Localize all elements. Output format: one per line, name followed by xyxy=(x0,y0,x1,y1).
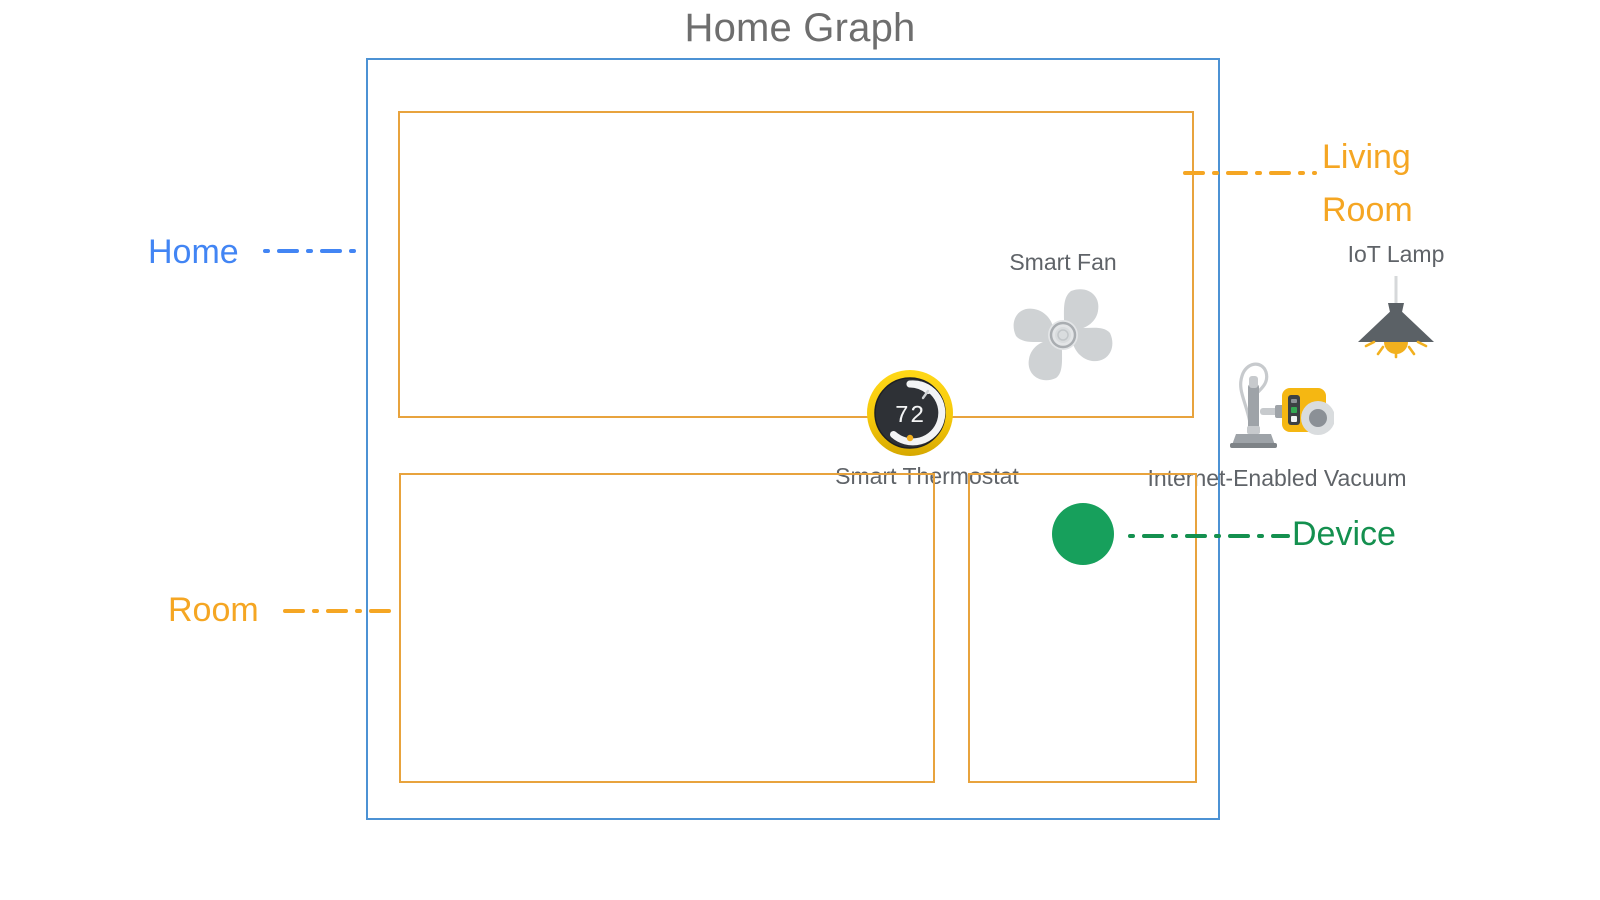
annotation-label-living-room-line2: Room xyxy=(1322,184,1413,237)
room-box-living-room: Smart Fan IoT Lamp xyxy=(398,111,1194,418)
annotation-label-living-room: Living Room xyxy=(1322,131,1413,236)
device-label-smart-fan: Smart Fan xyxy=(965,249,1161,276)
annotation-label-device: Device xyxy=(1292,508,1396,561)
thermostat-reading: 72 xyxy=(895,403,926,430)
annotation-label-room: Room xyxy=(168,584,259,637)
fan-icon xyxy=(1009,285,1117,385)
page-title: Home Graph xyxy=(0,6,1600,51)
leader-line-room xyxy=(285,609,398,613)
leader-line-home xyxy=(265,249,365,253)
room-box-empty-left xyxy=(399,473,935,783)
lamp-icon xyxy=(1350,276,1442,364)
annotation-label-living-room-line1: Living xyxy=(1322,131,1413,184)
device-dot-icon xyxy=(1052,503,1114,565)
thermostat-icon: 72 xyxy=(866,369,954,457)
annotation-label-home: Home xyxy=(148,226,239,279)
vacuum-icon xyxy=(1222,348,1334,448)
home-graph-diagram: Home Graph Smart Fan xyxy=(0,0,1600,900)
leader-line-living-room xyxy=(1185,171,1315,175)
device-label-iot-lamp: IoT Lamp xyxy=(1298,241,1494,268)
leader-line-device xyxy=(1130,534,1288,538)
